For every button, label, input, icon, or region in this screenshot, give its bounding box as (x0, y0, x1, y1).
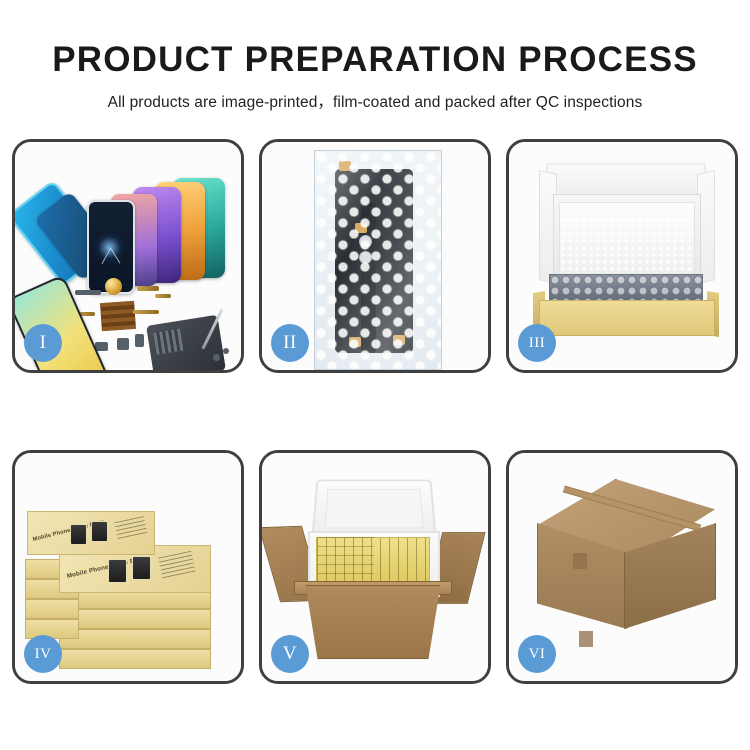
box-screen-image (70, 524, 87, 545)
small-part-icon (135, 334, 144, 347)
stacked-box (25, 619, 79, 639)
box-spec-lines (158, 551, 196, 580)
bubble-wrap-bag-icon (314, 150, 442, 370)
small-part-icon (75, 290, 101, 295)
step-badge-i: I (24, 324, 62, 362)
foam-lid-inset (325, 489, 424, 529)
page-title: PRODUCT PREPARATION PROCESS (0, 0, 750, 79)
chip-array-icon (100, 301, 136, 331)
screw-icon (223, 348, 229, 354)
step-badge-iii: III (518, 324, 556, 362)
cracked-screen-icon (95, 234, 125, 268)
box-screen-image (108, 559, 127, 583)
plastic-sheen-icon (315, 151, 441, 369)
process-step-panel-vi: VI (506, 450, 738, 684)
step-badge-ii: II (271, 324, 309, 362)
flex-cable-icon (155, 294, 171, 298)
page-subtitle: All products are image-printed，film-coat… (0, 79, 750, 112)
box-screen-image (132, 556, 151, 580)
stacked-box (59, 649, 211, 669)
process-steps-grid: I II (12, 139, 738, 684)
printed-box-back: Mobile Phone Spare Parts (27, 511, 155, 555)
flex-cable-icon (133, 310, 159, 314)
step-badge-v: V (271, 635, 309, 673)
process-step-panel-v: V (259, 450, 491, 684)
carton-tape-patch-icon (579, 631, 593, 647)
flex-cable-icon (137, 286, 159, 291)
step-badge-iv: IV (24, 635, 62, 673)
carton-tape-patch-icon (573, 553, 587, 569)
box-front-panel-icon (539, 300, 715, 336)
screw-icon (213, 354, 220, 361)
process-step-panel-i: I (12, 139, 244, 373)
page-header: PRODUCT PREPARATION PROCESS All products… (0, 0, 750, 112)
carton-front-icon (298, 585, 448, 659)
box-screen-image (91, 521, 108, 542)
small-part-icon (117, 338, 129, 350)
stacked-box (59, 629, 211, 649)
process-step-panel-iii: III (506, 139, 738, 373)
gold-component-icon (105, 278, 122, 295)
step-badge-vi: VI (518, 635, 556, 673)
process-step-panel-iv: Mobile Phone Spare Parts Mobile Phone Sp… (12, 450, 244, 684)
stacked-box (59, 609, 211, 629)
box-spec-lines (114, 516, 147, 541)
yellow-box-edges-secondary (318, 537, 374, 585)
process-step-panel-ii: II (259, 139, 491, 373)
foam-sheet-icon (559, 202, 695, 276)
stacked-box (25, 599, 79, 619)
product-preparation-process-page: PRODUCT PREPARATION PROCESS All products… (0, 0, 750, 750)
